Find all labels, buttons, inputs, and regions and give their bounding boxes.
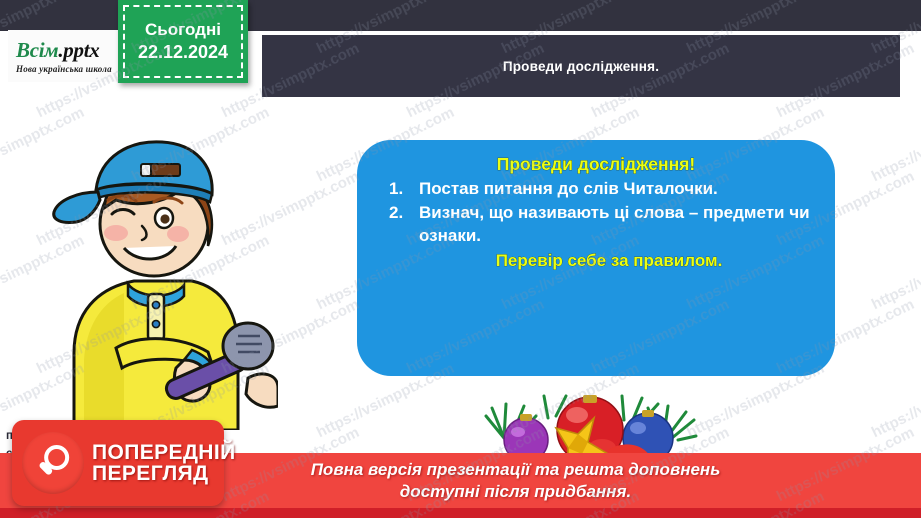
list-item-text: Постав питання до слів Читалочки. (419, 178, 819, 200)
preview-banner-text: Повна версія презентації та решта доповн… (201, 459, 721, 503)
slide-title-bar: Проведи дослідження. (262, 35, 900, 97)
brand-name-main: Всім (16, 38, 58, 62)
date-badge-inner: Сьогодні 22.12.2024 (123, 5, 243, 78)
list-item-number: 1. (389, 178, 419, 200)
preview-badge-line-2: ПЕРЕГЛЯД (92, 463, 236, 484)
slide-root: Всім.pptx Нова українська школа Сьогодні… (0, 0, 921, 518)
boy-with-microphone-illustration (42, 138, 278, 430)
date-badge: Сьогодні 22.12.2024 (118, 0, 248, 83)
magnifier-icon (22, 432, 84, 494)
content-card-heading: Проведи дослідження! (373, 154, 819, 175)
list-item-number: 2. (389, 202, 419, 224)
content-card-footer: Перевір себе за правилом. (373, 251, 819, 271)
preview-badge-text: ПОПЕРЕДНІЙ ПЕРЕГЛЯД (92, 442, 236, 485)
banner-bottom-strip (0, 508, 921, 518)
slide-title-text: Проведи дослідження. (503, 59, 659, 74)
brand-name-ext: .pptx (58, 38, 99, 62)
content-card-list: 1. Постав питання до слів Читалочки. 2. … (389, 178, 819, 247)
magnifier-icon-svg (32, 442, 74, 484)
content-card: Проведи дослідження! 1. Постав питання д… (357, 140, 835, 376)
preview-badge[interactable]: ПОПЕРЕДНІЙ ПЕРЕГЛЯД (12, 420, 224, 506)
preview-badge-line-1: ПОПЕРЕДНІЙ (92, 442, 236, 463)
preview-banner-line-2: доступні після придбання. (311, 481, 721, 503)
list-item: 2. Визнач, що називають ці слова – предм… (389, 202, 819, 247)
list-item-text: Визнач, що називають ці слова – предмети… (419, 202, 819, 247)
christmas-ornaments-decoration (482, 382, 698, 462)
list-item: 1. Постав питання до слів Читалочки. (389, 178, 819, 200)
date-value: 22.12.2024 (138, 42, 228, 63)
date-label: Сьогодні (145, 20, 221, 40)
christmas-ornaments-svg (482, 382, 698, 462)
preview-banner-line-1: Повна версія презентації та решта доповн… (311, 459, 721, 481)
boy-illustration-svg (42, 138, 278, 430)
